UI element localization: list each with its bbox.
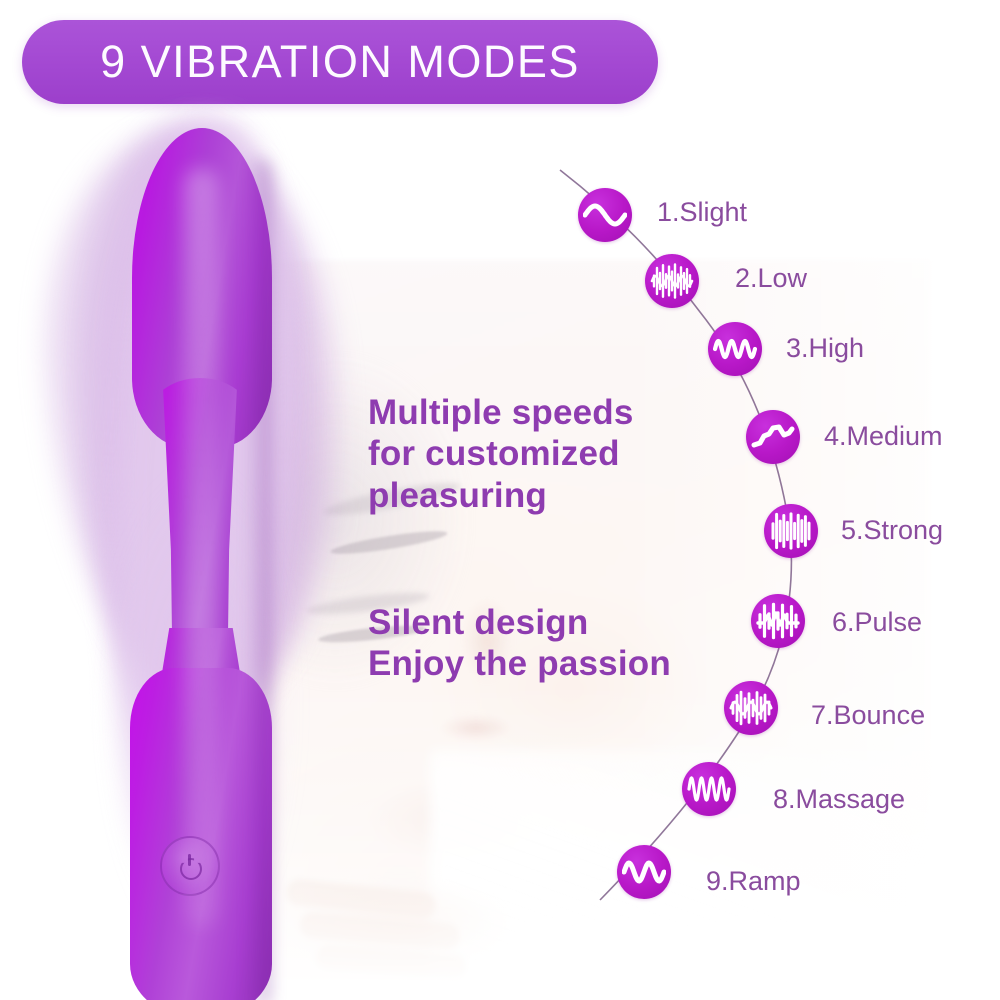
mode-label-3: 3.High <box>786 333 864 364</box>
device-body <box>118 128 284 1000</box>
device-shadow-edge <box>246 158 272 1000</box>
power-icon <box>179 855 201 877</box>
banner-title: 9 VIBRATION MODES <box>100 36 580 88</box>
headline-silent-design: Silent design Enjoy the passion <box>368 602 671 685</box>
product-infographic: 9 VIBRATION MODES Multiple speeds for cu… <box>0 0 1000 1000</box>
headline-line: Multiple speeds <box>368 392 634 433</box>
headline-line: Enjoy the passion <box>368 643 671 684</box>
power-button[interactable] <box>160 836 220 896</box>
header-banner: 9 VIBRATION MODES <box>22 20 658 104</box>
product-image <box>30 110 370 1000</box>
headline-multiple-speeds: Multiple speeds for customized pleasurin… <box>368 392 634 516</box>
wave-step-icon[interactable] <box>746 410 800 464</box>
wave-dense-bars-icon[interactable] <box>645 254 699 308</box>
mode-label-2: 2.Low <box>735 263 807 294</box>
device-highlight <box>184 168 218 928</box>
mode-label-6: 6.Pulse <box>832 607 922 638</box>
wave-zigzag-icon[interactable] <box>708 322 762 376</box>
wave-pulse-icon[interactable] <box>751 594 805 648</box>
wave-tall-bars-icon[interactable] <box>764 504 818 558</box>
wave-sine-icon[interactable] <box>578 188 632 242</box>
headline-line: Silent design <box>368 602 671 643</box>
mode-label-4: 4.Medium <box>824 421 943 452</box>
wave-bounce-icon[interactable] <box>724 681 778 735</box>
mode-label-7: 7.Bounce <box>811 700 925 731</box>
headline-line: pleasuring <box>368 475 634 516</box>
mode-label-8: 8.Massage <box>773 784 905 815</box>
mode-label-9: 9.Ramp <box>706 866 801 897</box>
wave-ramp-icon[interactable] <box>617 845 671 899</box>
wave-massage-icon[interactable] <box>682 762 736 816</box>
mode-label-1: 1.Slight <box>657 197 747 228</box>
headline-line: for customized <box>368 433 634 474</box>
mode-label-5: 5.Strong <box>841 515 943 546</box>
